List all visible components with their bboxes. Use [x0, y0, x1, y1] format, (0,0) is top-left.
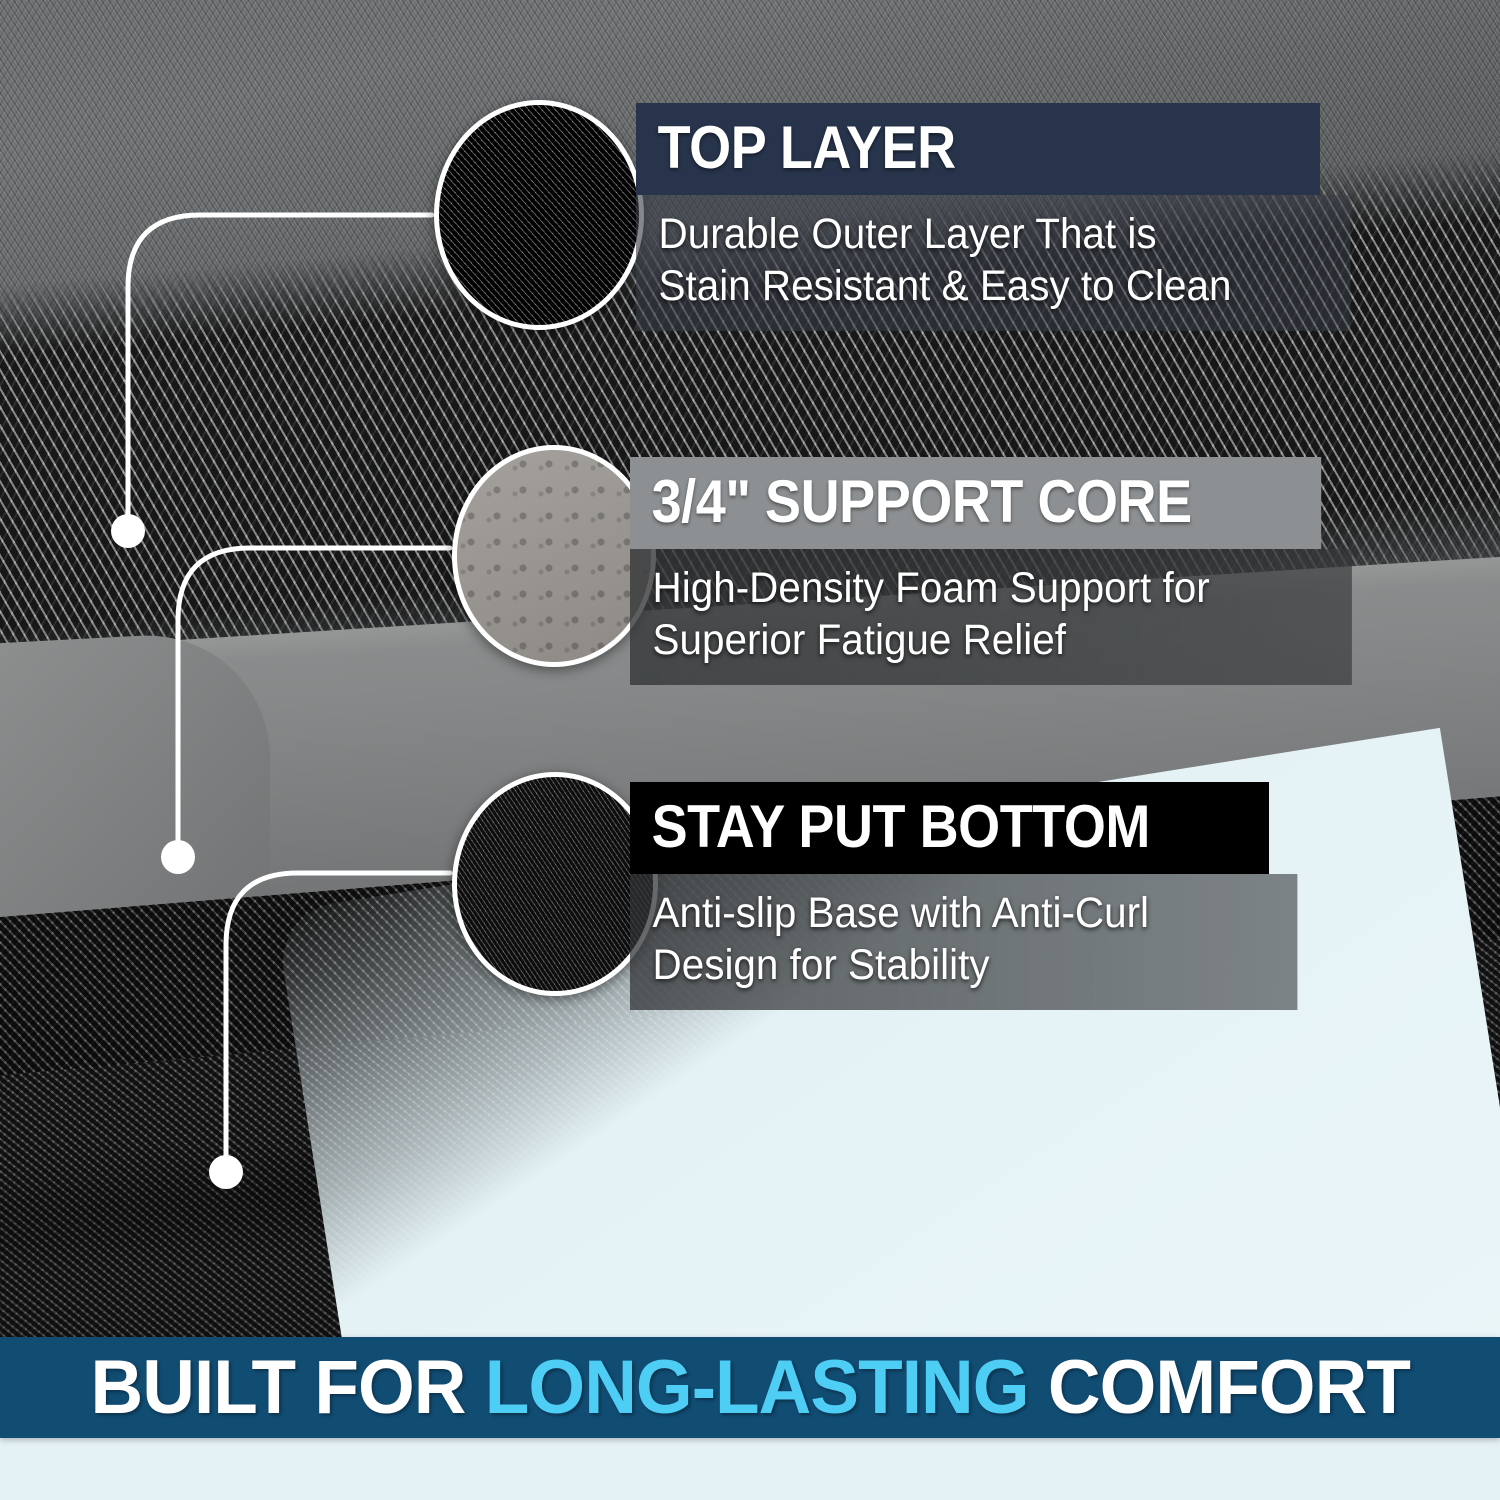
bottom-banner-text: BUILT FOR LONG-LASTING COMFORT [90, 1350, 1409, 1426]
callout-stay-put-bottom-body-line2: Design for Stability [653, 941, 990, 989]
anti-slip-base-texture-swatch [452, 772, 658, 996]
callout-top-layer-body-line1: Durable Outer Layer That is [659, 210, 1157, 258]
banner-text-accent: LONG-LASTING [485, 1345, 1029, 1430]
callout-stay-put-bottom-body: Anti-slip Base with Anti-Curl Design for… [630, 874, 1297, 1009]
connector-line-support-core [178, 548, 450, 846]
callout-top-layer-body-line2: Stain Resistant & Easy to Clean [659, 262, 1232, 310]
connector-dot-support-core [161, 840, 195, 874]
connector-dot-top-layer [111, 514, 145, 548]
connector-line-top-layer [128, 215, 432, 520]
callout-support-core: 3/4" SUPPORT CORE High-Density Foam Supp… [630, 457, 1398, 685]
callout-support-core-heading: 3/4" SUPPORT CORE [630, 457, 1321, 549]
callout-support-core-body-line2: Superior Fatigue Relief [653, 616, 1066, 664]
banner-text-part1: BUILT FOR [90, 1345, 484, 1430]
connector-dot-stay-put-bottom [209, 1155, 243, 1189]
connector-line-stay-put-bottom [226, 873, 450, 1161]
bottom-banner: BUILT FOR LONG-LASTING COMFORT [0, 1337, 1500, 1438]
foam-core-texture-swatch [452, 445, 656, 667]
callout-support-core-body: High-Density Foam Support for Superior F… [630, 549, 1352, 684]
callout-top-layer-body: Durable Outer Layer That is Stain Resist… [636, 195, 1350, 330]
top-layer-texture-swatch [434, 100, 644, 330]
callout-top-layer: TOP LAYER Durable Outer Layer That is St… [636, 103, 1396, 331]
callout-stay-put-bottom-body-line1: Anti-slip Base with Anti-Curl [653, 889, 1149, 937]
callout-stay-put-bottom-heading: STAY PUT BOTTOM [630, 782, 1269, 874]
banner-text-part2: COMFORT [1028, 1345, 1409, 1430]
infographic-canvas: TOP LAYER Durable Outer Layer That is St… [0, 0, 1500, 1500]
callout-stay-put-bottom: STAY PUT BOTTOM Anti-slip Base with Anti… [630, 782, 1340, 1010]
callout-support-core-body-line1: High-Density Foam Support for [653, 564, 1210, 612]
callout-top-layer-heading: TOP LAYER [636, 103, 1320, 195]
